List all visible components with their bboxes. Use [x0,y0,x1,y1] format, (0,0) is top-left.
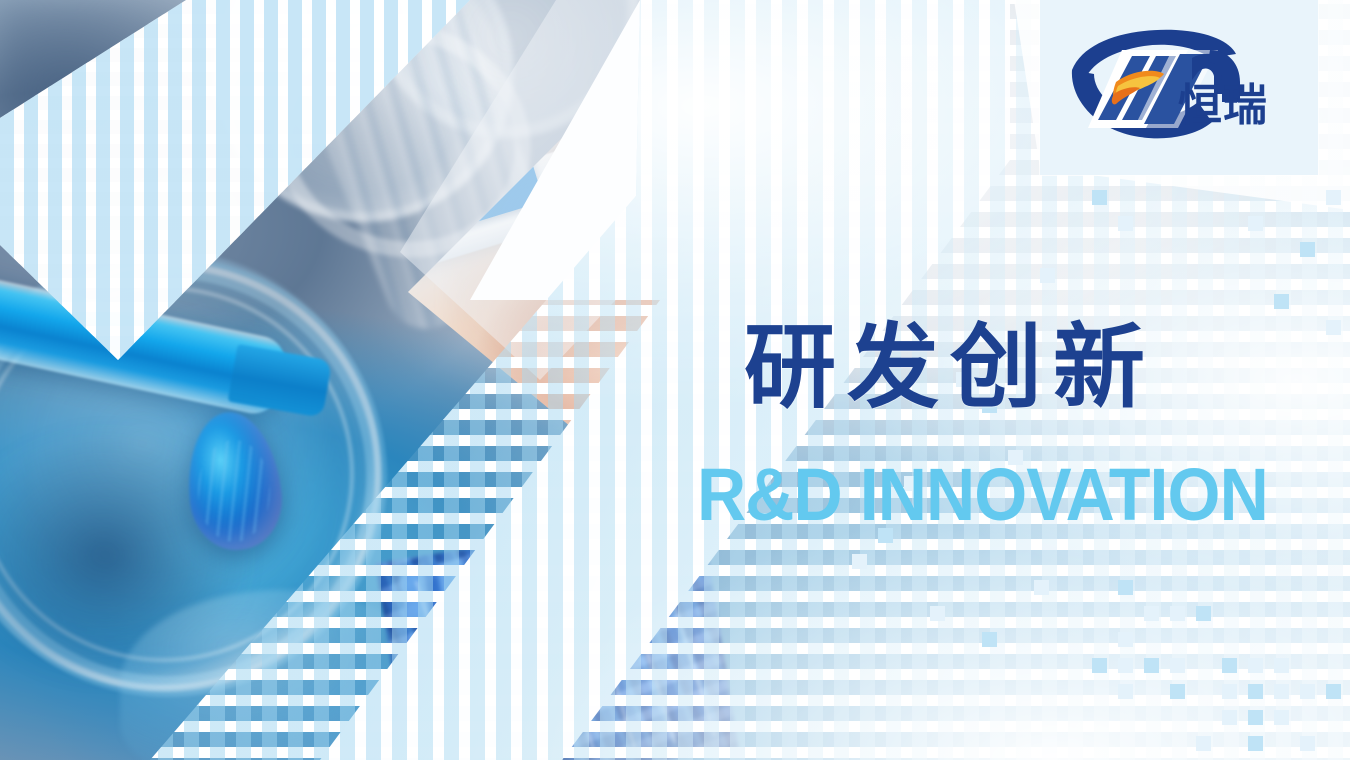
hengrui-logo-icon: 恒瑞 [1060,24,1310,152]
headline-english: R&D INNOVATION [697,458,1304,532]
headline-chinese: 研发创新 [744,322,1344,414]
svg-text:恒瑞: 恒瑞 [1178,80,1268,131]
hengrui-logo[interactable]: 恒瑞 [1060,24,1310,152]
droplet-highlight-streaks [198,440,270,542]
banner-canvas: 恒瑞 研发创新 R&D INNOVATION [0,0,1350,760]
